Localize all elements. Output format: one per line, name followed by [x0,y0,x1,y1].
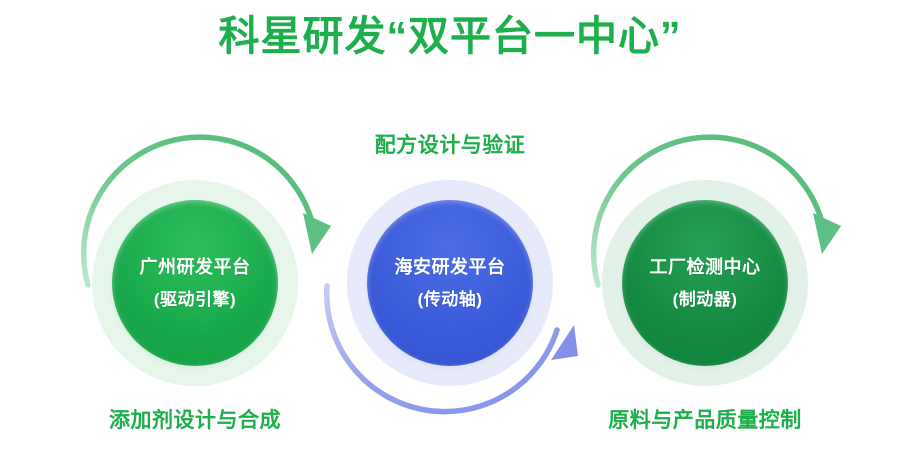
node-1-title: 广州研发平台 [140,258,251,276]
node-3-labels: 工厂检测中心 (制动器) [650,258,761,308]
node-3-title: 工厂检测中心 [650,258,761,276]
node-1-subtitle: (驱动引擎) [140,291,251,308]
caption-additive-design: 添加剂设计与合成 [0,404,390,434]
caption-formulation-design: 配方设计与验证 [0,129,900,159]
node-factory-testing-center[interactable]: 工厂检测中心 (制动器) [602,180,808,386]
page-title: 科星研发“双平台一中心” [0,14,900,59]
node-3-subtitle: (制动器) [650,291,761,308]
node-2-labels: 海安研发平台 (传动轴) [395,258,506,308]
node-guangzhou-rd-platform[interactable]: 广州研发平台 (驱动引擎) [92,180,298,386]
diagram-canvas: 科星研发“双平台一中心” [0,0,900,450]
caption-quality-control: 原料与产品质量控制 [510,404,900,434]
node-2-title: 海安研发平台 [395,258,506,276]
node-2-subtitle: (传动轴) [395,291,506,308]
node-haian-rd-platform[interactable]: 海安研发平台 (传动轴) [347,180,553,386]
node-1-labels: 广州研发平台 (驱动引擎) [140,258,251,308]
